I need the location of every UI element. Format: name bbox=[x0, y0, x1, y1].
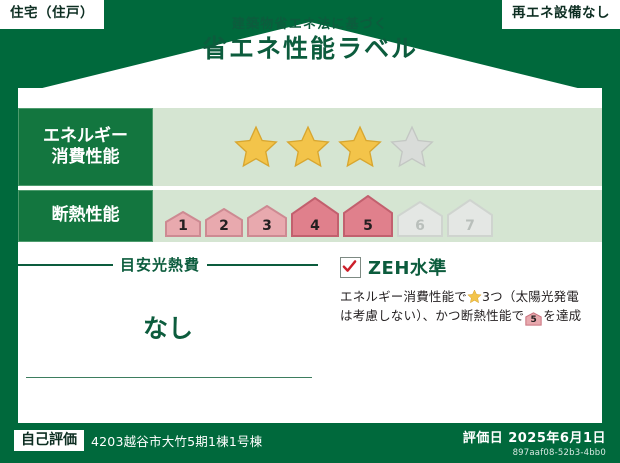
insulation-badge-inline: 5 bbox=[525, 312, 542, 326]
building-name: 4203越谷市大竹5期1棟1号棟 bbox=[91, 431, 262, 450]
insulation-label-text: 断熱性能 bbox=[52, 205, 120, 226]
star-rating bbox=[153, 108, 602, 186]
zeh-checkbox[interactable] bbox=[340, 257, 361, 278]
insulation-level-label: 1 bbox=[178, 218, 188, 234]
insulation-level-5: 5 bbox=[343, 195, 393, 237]
zeh-block: ZEH水準 エネルギー消費性能で3つ（太陽光発電 は考慮しない）、かつ断熱性能で… bbox=[318, 254, 602, 386]
cost-underline bbox=[26, 377, 312, 379]
zeh-title: ZEH水準 bbox=[368, 254, 447, 280]
star-icon-filled bbox=[337, 124, 383, 170]
footer-right: 評価日 2025年6月1日 897aaf08-52b3-4bb0 bbox=[463, 427, 606, 458]
utility-cost-block: 目安光熱費 なし bbox=[18, 254, 318, 386]
cost-rule-right bbox=[207, 264, 318, 266]
insulation-level-4: 4 bbox=[291, 197, 339, 237]
utility-cost-title: 目安光熱費 bbox=[120, 254, 200, 275]
energy-performance-row: エネルギー 消費性能 bbox=[18, 108, 602, 186]
star-icon-empty bbox=[389, 124, 435, 170]
energy-label-root: 住宅（住戸） 再エネ設備なし 建築物省エネ法に基づく 省エネ性能ラベル エネルギ… bbox=[0, 0, 620, 463]
label-footer: 自己評価 4203越谷市大竹5期1棟1号棟 評価日 2025年6月1日 897a… bbox=[0, 423, 620, 463]
insulation-performance-label: 断熱性能 bbox=[18, 190, 153, 242]
zeh-header: ZEH水準 bbox=[340, 254, 602, 280]
insulation-scale: 1234567 bbox=[165, 195, 493, 237]
zeh-desc-part2: は考慮しない）、かつ断熱性能で bbox=[340, 308, 524, 323]
star-icon-filled bbox=[233, 124, 279, 170]
insulation-scale-wrap: 1234567 bbox=[153, 190, 602, 242]
zeh-description: エネルギー消費性能で3つ（太陽光発電 は考慮しない）、かつ断熱性能で5を達成 bbox=[340, 287, 602, 326]
check-icon bbox=[342, 259, 357, 274]
energy-label-line1: エネルギー bbox=[43, 126, 128, 147]
self-evaluation-badge: 自己評価 bbox=[14, 430, 84, 451]
insulation-level-1: 1 bbox=[165, 211, 201, 237]
footer-left: 自己評価 4203越谷市大竹5期1棟1号棟 bbox=[14, 430, 262, 451]
lower-section: 目安光熱費 なし ZEH水準 エネルギー消費性能で3つ（太陽光発電 bbox=[18, 254, 602, 386]
roof-shape bbox=[18, 22, 602, 94]
insulation-level-label: 3 bbox=[262, 218, 272, 234]
insulation-level-7: 7 bbox=[447, 199, 493, 237]
renewable-equipment-tag: 再エネ設備なし bbox=[502, 0, 620, 29]
insulation-performance-row: 断熱性能 1234567 bbox=[18, 190, 602, 242]
insulation-level-label: 4 bbox=[310, 218, 320, 234]
zeh-desc-stars: 3つ（太陽光発電 bbox=[482, 289, 579, 304]
zeh-desc-part3: を達成 bbox=[543, 308, 581, 323]
utility-cost-value: なし bbox=[18, 309, 318, 345]
energy-performance-label: エネルギー 消費性能 bbox=[18, 108, 153, 186]
insulation-level-label: 5 bbox=[363, 218, 373, 234]
insulation-level-label: 2 bbox=[219, 218, 229, 234]
star-icon-inline bbox=[467, 289, 482, 304]
utility-cost-header: 目安光熱費 bbox=[18, 254, 318, 275]
energy-label-line2: 消費性能 bbox=[52, 147, 120, 168]
cost-rule-left bbox=[18, 264, 113, 266]
insulation-level-label: 7 bbox=[465, 218, 475, 234]
insulation-level-2: 2 bbox=[205, 208, 243, 237]
insulation-level-6: 6 bbox=[397, 201, 443, 237]
building-type-tag: 住宅（住戸） bbox=[0, 0, 104, 29]
insulation-badge-value: 5 bbox=[525, 312, 542, 328]
evaluation-date: 評価日 2025年6月1日 bbox=[463, 427, 606, 446]
insulation-level-label: 6 bbox=[415, 218, 425, 234]
insulation-level-3: 3 bbox=[247, 205, 287, 237]
label-uuid: 897aaf08-52b3-4bb0 bbox=[463, 448, 606, 458]
zeh-desc-part1: エネルギー消費性能で bbox=[340, 289, 467, 304]
star-icon-filled bbox=[285, 124, 331, 170]
label-content: エネルギー 消費性能 断熱性能 1234567 目安光熱費 なし bbox=[18, 108, 602, 423]
